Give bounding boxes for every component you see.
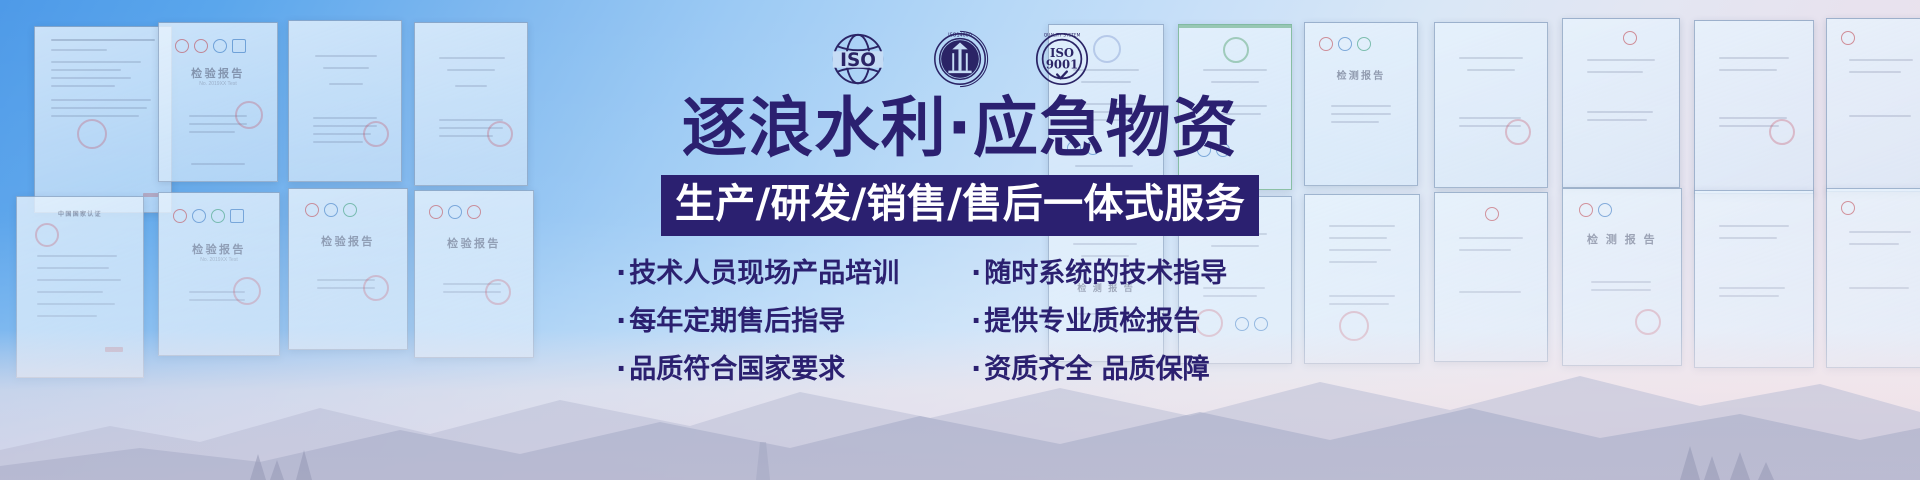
bullet-marker-icon: · [616, 306, 626, 337]
list-item: ·资质齐全 品质保障 [965, 354, 1310, 385]
certificate-card: 检测报告 [1304, 22, 1418, 186]
list-item: ·提供专业质检报告 [965, 306, 1310, 337]
list-item-label: 每年定期售后指导 [629, 306, 845, 337]
list-item-label: 资质齐全 品质保障 [984, 354, 1209, 385]
certificate-subtitle: No. 2019XX Test [159, 81, 277, 87]
list-item-label: 技术人员现场产品培训 [629, 258, 899, 289]
list-item-label: 随时系统的技术指导 [984, 258, 1227, 289]
banner-headline: 逐浪水利·应急物资 [610, 96, 1310, 161]
bullet-marker-icon: · [971, 258, 981, 289]
iso-globe-badge: ISO [827, 28, 889, 90]
certificate-card [34, 26, 172, 213]
list-item: ·每年定期售后指导 [610, 306, 955, 337]
certificate-card [414, 22, 528, 186]
banner-content: 逐浪水利·应急物资 生产/研发/销售/售后一体式服务 ·技术人员现场产品培训 ·… [610, 96, 1310, 385]
promotional-banner: 检验报告 No. 2019XX Test [0, 0, 1920, 480]
list-item: ·随时系统的技术指导 [965, 258, 1310, 289]
svg-text:ISO: ISO [840, 50, 876, 71]
certificate-card: 检验报告 [288, 188, 408, 350]
certificate-card [1562, 18, 1680, 188]
cert-logo-row [175, 39, 246, 53]
iso-9001-seal: ISO 9001 QUALITY SYSTEM [1031, 28, 1093, 90]
certificate-title: 检 测 报 告 [1563, 231, 1681, 247]
certificate-title: 检验报告 [159, 241, 279, 257]
list-item-label: 品质符合国家要求 [629, 354, 845, 385]
certificate-card [1826, 18, 1920, 192]
certificate-title: 检测报告 [1305, 67, 1417, 82]
svg-text:ISO14000: ISO14000 [948, 33, 972, 39]
certificate-title: 检验报告 [159, 65, 277, 81]
certificate-title: 检验报告 [415, 235, 533, 251]
china-certification-seal: ISO14000 [929, 28, 991, 90]
bullet-marker-icon: · [616, 258, 626, 289]
feature-bullet-list: ·技术人员现场产品培训 ·随时系统的技术指导 ·每年定期售后指导 ·提供专业质检… [610, 258, 1310, 385]
bullet-marker-icon: · [971, 306, 981, 337]
bullet-marker-icon: · [971, 354, 981, 385]
svg-text:QUALITY SYSTEM: QUALITY SYSTEM [1044, 33, 1081, 39]
certificate-title: 检验报告 [289, 233, 407, 249]
banner-subtitle-bar: 生产/研发/销售/售后一体式服务 [661, 175, 1259, 236]
svg-text:9001: 9001 [1046, 58, 1078, 72]
list-item-label: 提供专业质检报告 [984, 306, 1200, 337]
cert-logo-row [173, 209, 244, 223]
certificate-card [1694, 20, 1814, 194]
certificate-subtitle: No. 2019XX Test [159, 257, 279, 263]
list-item: ·技术人员现场产品培训 [610, 258, 955, 289]
certificate-card [288, 20, 402, 182]
certificate-card: 检验报告 No. 2019XX Test [158, 22, 278, 182]
certificate-title: 中国国家认证 [17, 209, 143, 218]
certificate-card [1434, 22, 1548, 188]
bullet-marker-icon: · [616, 354, 626, 385]
certification-badges: ISO ISO14000 [827, 28, 1093, 90]
list-item: ·品质符合国家要求 [610, 354, 955, 385]
